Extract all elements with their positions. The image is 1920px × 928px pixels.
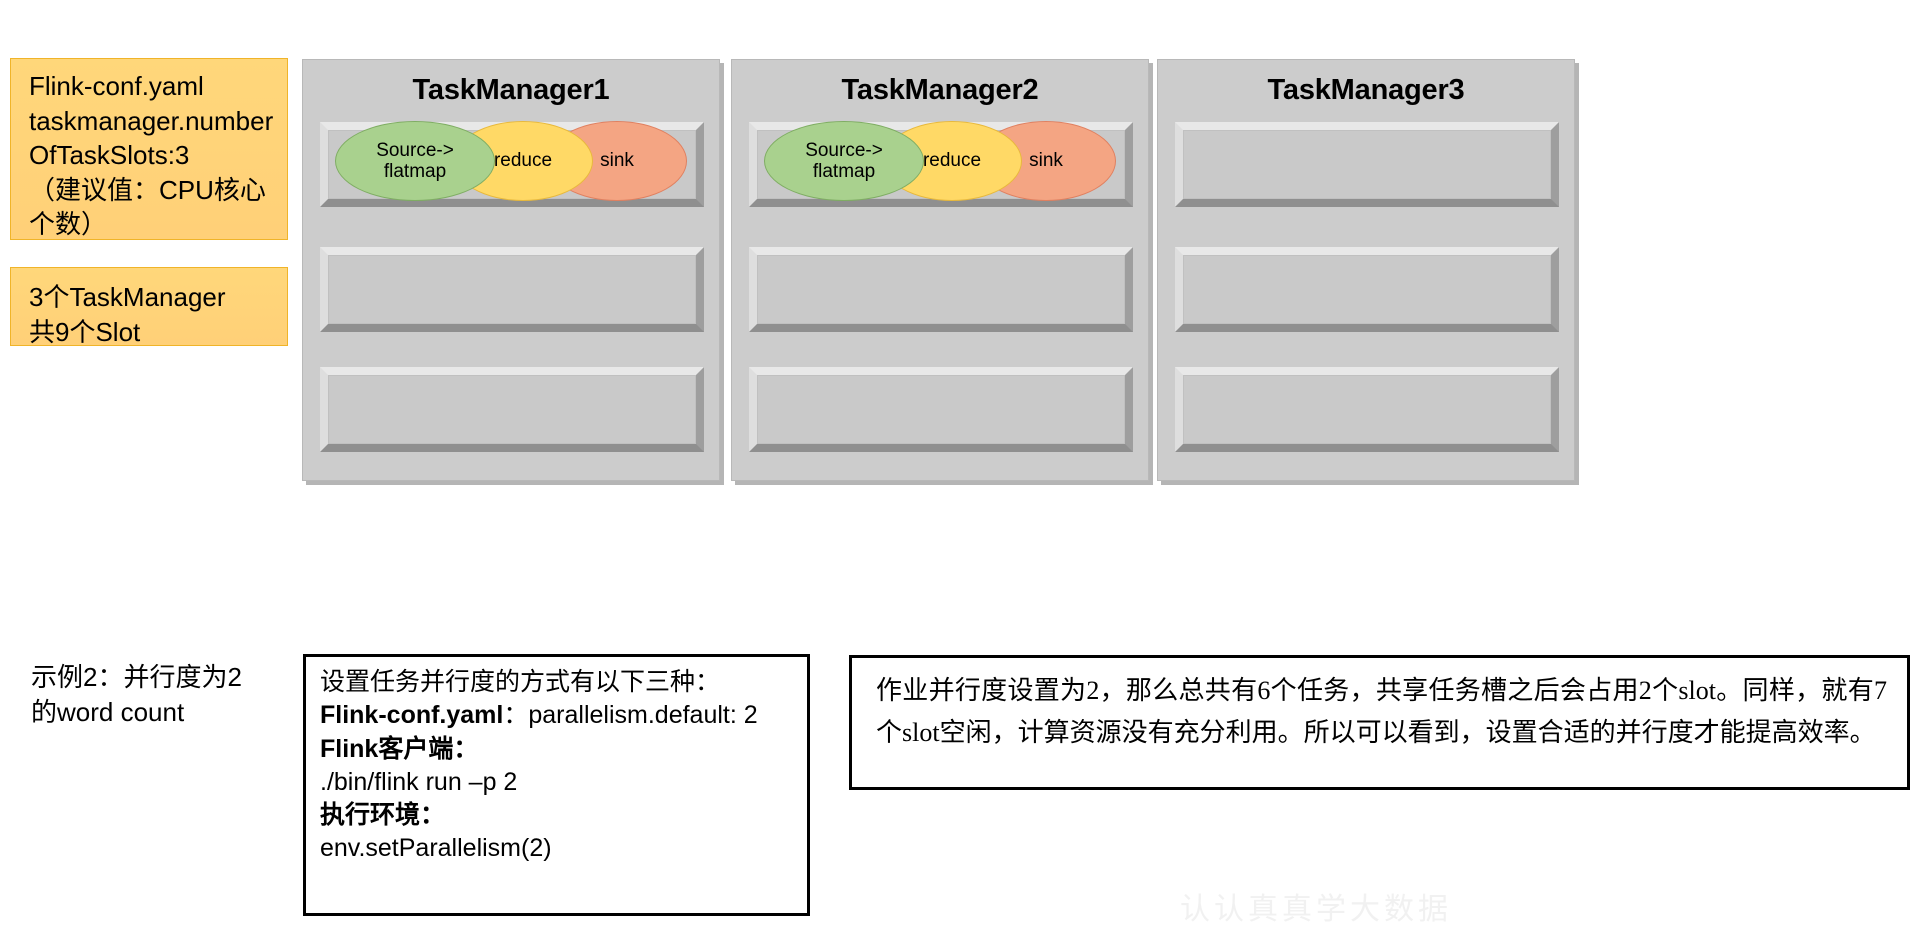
- taskmanager-panel-1: TaskManager1 Source-> flatmap reduce sin…: [302, 59, 720, 481]
- parallelism-heading: 设置任务并行度的方式有以下三种：: [320, 666, 807, 699]
- taskmanager-title: TaskManager2: [732, 74, 1148, 107]
- operator-source-flatmap: Source-> flatmap: [764, 121, 924, 201]
- explanation-box: 作业并行度设置为2，那么总共有6个任务，共享任务槽之后会占用2个slot。同样，…: [849, 655, 1910, 790]
- parallelism-client-value: ./bin/flink run –p 2: [320, 766, 807, 799]
- parallelism-yaml-value: ：parallelism.default: 2: [503, 701, 757, 729]
- task-slot-inner: [328, 375, 696, 444]
- taskmanager-title: TaskManager3: [1158, 74, 1574, 107]
- task-slot[interactable]: [749, 247, 1133, 332]
- parallelism-env-label: 执行环境：: [320, 799, 807, 832]
- task-slot-inner: [757, 255, 1125, 324]
- operator-chain: Source-> flatmap reduce sink: [754, 119, 1126, 203]
- parallelism-client-label: Flink客户端：: [320, 733, 807, 766]
- task-slot[interactable]: Source-> flatmap reduce sink: [320, 122, 704, 207]
- operator-chain: Source-> flatmap reduce sink: [325, 119, 697, 203]
- example-caption: 示例2：并行度为2 的word count: [31, 660, 291, 730]
- parallelism-env-value: env.setParallelism(2): [320, 832, 807, 865]
- task-slot-inner: [1183, 130, 1551, 199]
- watermark-text: 认认真真学大数据: [1180, 884, 1880, 928]
- task-slot-inner: [328, 255, 696, 324]
- note-slot-summary: 3个TaskManager 共9个Slot: [10, 267, 288, 346]
- parallelism-yaml-label: Flink-conf.yaml: [320, 701, 503, 729]
- operator-source-flatmap: Source-> flatmap: [335, 121, 495, 201]
- taskmanager-panel-3: TaskManager3: [1157, 59, 1575, 481]
- task-slot[interactable]: [320, 247, 704, 332]
- task-slot-inner: [1183, 255, 1551, 324]
- task-slot[interactable]: [320, 367, 704, 452]
- task-slot[interactable]: [1175, 367, 1559, 452]
- task-slot[interactable]: [1175, 247, 1559, 332]
- note-taskslots-config: Flink-conf.yaml taskmanager.number OfTas…: [10, 58, 288, 240]
- task-slot-inner: [757, 375, 1125, 444]
- task-slot-inner: Source-> flatmap reduce sink: [757, 130, 1125, 199]
- parallelism-line-yaml: Flink-conf.yaml：parallelism.default: 2: [320, 699, 807, 732]
- task-slot[interactable]: [1175, 122, 1559, 207]
- task-slot-inner: Source-> flatmap reduce sink: [328, 130, 696, 199]
- task-slot[interactable]: Source-> flatmap reduce sink: [749, 122, 1133, 207]
- task-slot-inner: [1183, 375, 1551, 444]
- parallelism-settings-box: 设置任务并行度的方式有以下三种： Flink-conf.yaml：paralle…: [303, 654, 810, 916]
- taskmanager-title: TaskManager1: [303, 74, 719, 107]
- taskmanager-panel-2: TaskManager2 Source-> flatmap reduce sin…: [731, 59, 1149, 481]
- task-slot[interactable]: [749, 367, 1133, 452]
